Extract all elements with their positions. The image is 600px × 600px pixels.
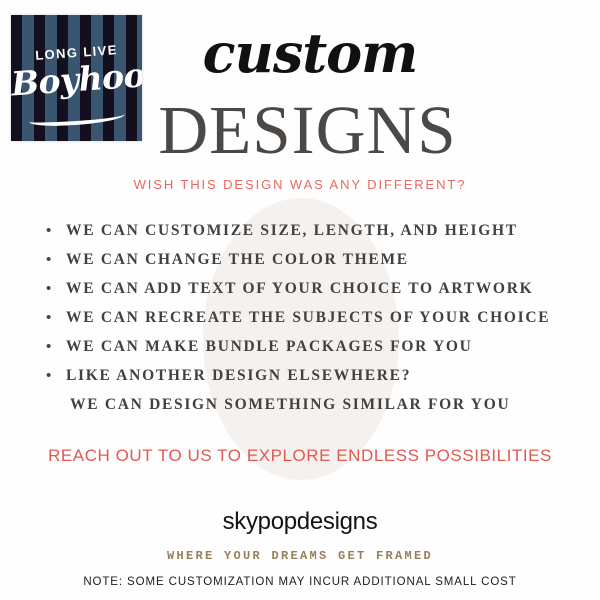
logo-inner: LONG LIVE Boyhood (11, 15, 142, 141)
bullet-dot-icon: • (44, 252, 66, 267)
page-title: DESIGNS (130, 96, 485, 165)
list-item: • WE CAN MAKE BUNDLE PACKAGES FOR YOU (44, 332, 584, 361)
list-item: • WE CAN CUSTOMIZE SIZE, LENGTH, AND HEI… (44, 216, 584, 245)
subheadline: WISH THIS DESIGN WAS ANY DIFFERENT? (0, 177, 600, 192)
list-item-continuation: WE CAN DESIGN SOMETHING SIMILAR FOR YOU (44, 390, 584, 419)
feature-list: • WE CAN CUSTOMIZE SIZE, LENGTH, AND HEI… (44, 216, 584, 419)
bullet-dot-icon: • (44, 368, 66, 383)
bullet-dot-icon: • (44, 339, 66, 354)
list-item: • WE CAN ADD TEXT OF YOUR CHOICE TO ARTW… (44, 274, 584, 303)
list-item: • LIKE ANOTHER DESIGN ELSEWHERE? (44, 361, 584, 390)
list-item-label: WE CAN DESIGN SOMETHING SIMILAR FOR YOU (66, 396, 510, 414)
list-item: • WE CAN CHANGE THE COLOR THEME (44, 245, 584, 274)
list-item-label: LIKE ANOTHER DESIGN ELSEWHERE? (66, 367, 411, 385)
list-item: • WE CAN RECREATE THE SUBJECTS OF YOUR C… (44, 303, 584, 332)
list-item-label: WE CAN RECREATE THE SUBJECTS OF YOUR CHO… (66, 309, 550, 327)
list-item-label: WE CAN MAKE BUNDLE PACKAGES FOR YOU (66, 338, 473, 356)
logo-swoosh-underline-icon (29, 108, 126, 127)
call-to-action-text: REACH OUT TO US TO EXPLORE ENDLESS POSSI… (0, 446, 600, 466)
bullet-dot-icon: • (44, 223, 66, 238)
logo-script-text: Boyhood (11, 55, 142, 103)
footnote: NOTE: SOME CUSTOMIZATION MAY INCUR ADDIT… (0, 576, 600, 588)
promo-graphic: LONG LIVE Boyhood custom DESIGNS WISH TH… (0, 0, 600, 600)
list-item-label: WE CAN CUSTOMIZE SIZE, LENGTH, AND HEIGH… (66, 222, 518, 240)
headline-script: custom (155, 26, 465, 80)
brand-tagline: WHERE YOUR DREAMS GET FRAMED (0, 549, 600, 563)
bullet-dot-icon: • (44, 310, 66, 325)
list-item-label: WE CAN ADD TEXT OF YOUR CHOICE TO ARTWOR… (66, 280, 533, 298)
bullet-dot-icon: • (44, 281, 66, 296)
list-item-label: WE CAN CHANGE THE COLOR THEME (66, 251, 409, 269)
brand-name: skypopdesigns (0, 508, 600, 536)
brand-logo-tile: LONG LIVE Boyhood (11, 15, 142, 141)
